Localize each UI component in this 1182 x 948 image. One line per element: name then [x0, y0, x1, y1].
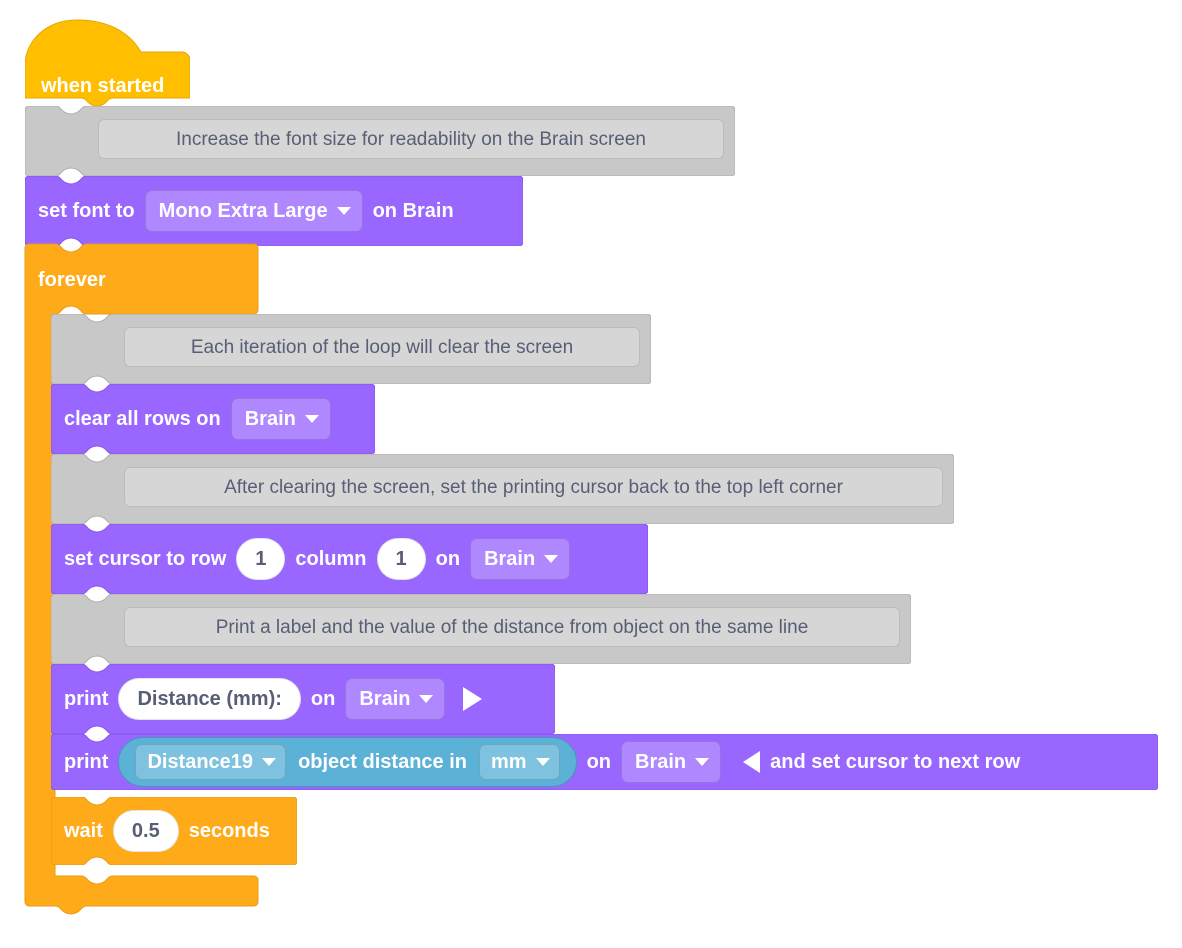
- chevron-down-icon: [695, 758, 709, 766]
- set-cursor-device-dropdown[interactable]: Brain: [470, 538, 570, 580]
- set-font-prefix-label: set font to: [38, 201, 135, 221]
- distance-sensor-reporter[interactable]: Distance19 object distance in mm: [118, 737, 576, 787]
- print-distance-block[interactable]: print Distance19 object distance in mm o…: [51, 734, 1158, 790]
- set-cursor-block[interactable]: set cursor to row 1 column 1 on Brain: [51, 524, 648, 594]
- clear-rows-row: clear all rows on Brain: [51, 384, 331, 454]
- clear-all-rows-block[interactable]: clear all rows on Brain: [51, 384, 375, 454]
- forever-label: forever: [38, 270, 106, 290]
- wait-seconds-input[interactable]: 0.5: [113, 810, 179, 852]
- print-label-row: print Distance (mm): on Brain: [51, 664, 482, 734]
- print-label-block[interactable]: print Distance (mm): on Brain: [51, 664, 555, 734]
- triangle-right-icon[interactable]: [463, 687, 482, 711]
- print-label-prefix: print: [64, 689, 108, 709]
- hat-block-label: when started: [41, 76, 164, 96]
- cursor-column-input[interactable]: 1: [377, 538, 426, 580]
- cursor-row-value: 1: [255, 549, 266, 569]
- set-cursor-on-label: on: [436, 549, 460, 569]
- comment-text: Each iteration of the loop will clear th…: [191, 338, 573, 357]
- chevron-down-icon: [419, 695, 433, 703]
- distance-sensor-middle-label: object distance in: [298, 752, 467, 772]
- comment-text-field[interactable]: Print a label and the value of the dista…: [124, 607, 900, 647]
- wait-prefix-label: wait: [64, 821, 103, 841]
- chevron-down-icon: [536, 758, 550, 766]
- wait-seconds-value: 0.5: [132, 821, 160, 841]
- comment-block-1[interactable]: Increase the font size for readability o…: [25, 106, 735, 176]
- clear-rows-device-value: Brain: [245, 409, 296, 429]
- comment-block-4[interactable]: Print a label and the value of the dista…: [51, 594, 911, 664]
- set-cursor-row: set cursor to row 1 column 1 on Brain: [51, 524, 570, 594]
- block-workspace[interactable]: when started Increase the font size for …: [0, 0, 1182, 948]
- font-size-value: Mono Extra Large: [159, 201, 328, 221]
- print-label-on: on: [311, 689, 335, 709]
- cursor-column-value: 1: [396, 549, 407, 569]
- comment-text: Print a label and the value of the dista…: [216, 618, 809, 637]
- comment-text-field[interactable]: Increase the font size for readability o…: [98, 119, 724, 159]
- wait-suffix-label: seconds: [189, 821, 270, 841]
- set-cursor-column-label: column: [295, 549, 366, 569]
- comment-text: Increase the font size for readability o…: [176, 130, 646, 149]
- triangle-left-icon[interactable]: [743, 751, 760, 773]
- print-distance-on-label: on: [587, 752, 611, 772]
- set-font-row: set font to Mono Extra Large on Brain: [25, 176, 454, 246]
- print-distance-row: print Distance19 object distance in mm o…: [51, 734, 1020, 790]
- distance-sensor-dropdown[interactable]: Distance19: [135, 744, 286, 780]
- print-label-device-dropdown[interactable]: Brain: [345, 678, 445, 720]
- chevron-down-icon: [544, 555, 558, 563]
- wait-block[interactable]: wait 0.5 seconds: [51, 797, 297, 865]
- print-label-device-value: Brain: [359, 689, 410, 709]
- when-started-hat-block[interactable]: when started: [25, 18, 190, 106]
- comment-block-2[interactable]: Each iteration of the loop will clear th…: [51, 314, 651, 384]
- print-distance-suffix-label: and set cursor to next row: [770, 752, 1020, 772]
- print-text-value: Distance (mm):: [137, 689, 281, 709]
- set-font-block[interactable]: set font to Mono Extra Large on Brain: [25, 176, 523, 246]
- distance-unit-value: mm: [491, 752, 527, 772]
- distance-unit-dropdown[interactable]: mm: [479, 744, 560, 780]
- comment-block-3[interactable]: After clearing the screen, set the print…: [51, 454, 954, 524]
- font-size-dropdown[interactable]: Mono Extra Large: [145, 190, 363, 232]
- clear-rows-device-dropdown[interactable]: Brain: [231, 398, 331, 440]
- print-distance-device-value: Brain: [635, 752, 686, 772]
- chevron-down-icon: [262, 758, 276, 766]
- chevron-down-icon: [305, 415, 319, 423]
- chevron-down-icon: [337, 207, 351, 215]
- set-cursor-device-value: Brain: [484, 549, 535, 569]
- set-cursor-row-label: set cursor to row: [64, 549, 226, 569]
- comment-text-field[interactable]: After clearing the screen, set the print…: [124, 467, 943, 507]
- print-distance-prefix: print: [64, 752, 108, 772]
- set-font-suffix-label: on Brain: [373, 201, 454, 221]
- wait-row: wait 0.5 seconds: [51, 797, 270, 865]
- clear-rows-label: clear all rows on: [64, 409, 221, 429]
- comment-text: After clearing the screen, set the print…: [224, 478, 843, 497]
- print-distance-device-dropdown[interactable]: Brain: [621, 741, 721, 783]
- distance-sensor-value: Distance19: [147, 752, 253, 772]
- comment-text-field[interactable]: Each iteration of the loop will clear th…: [124, 327, 640, 367]
- print-text-input[interactable]: Distance (mm):: [118, 678, 300, 720]
- cursor-row-input[interactable]: 1: [236, 538, 285, 580]
